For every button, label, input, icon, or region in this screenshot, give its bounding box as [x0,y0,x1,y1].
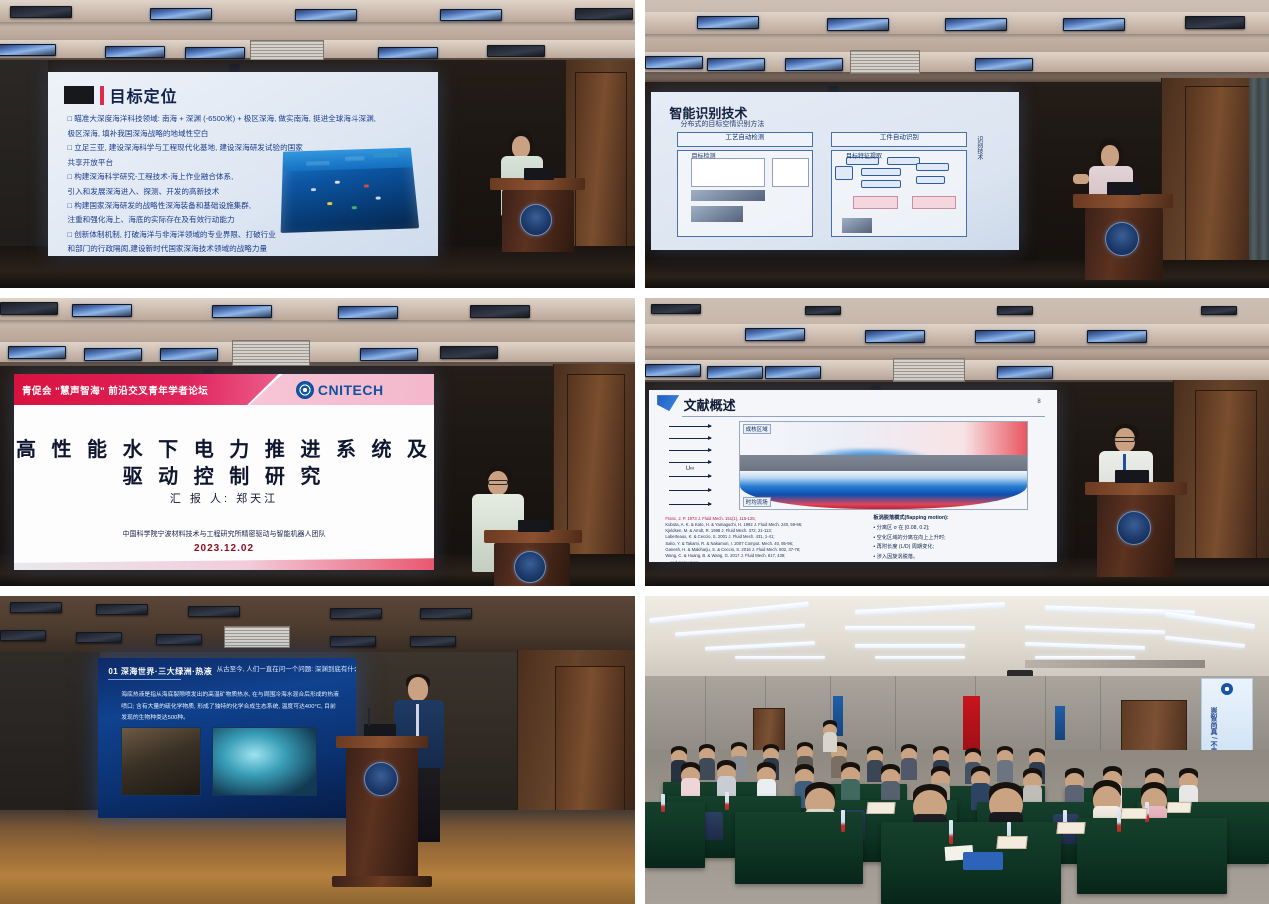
laptop [518,520,550,532]
bullet-line: □ 瞄准大深度海洋科技领域: 南海 + 深渊 (-6500米) + 极区深海, … [68,112,423,126]
conclusion-item: • 分离区 σ 在 [0.08, 0.2]; [873,524,1044,534]
organization-line: 中国科学院宁波材料技术与工程研究所精密驱动与智能机器人团队 [14,529,434,539]
plot-label-top: 成核区域 [743,424,771,434]
forum-banner: 青促会 "慧声智海" 前沿交叉青年学者论坛 [14,374,279,405]
microphone [368,708,370,726]
forum-banner-text: 青促会 "慧声智海" 前沿交叉青年学者论坛 [14,383,208,397]
feature-map-a [853,196,897,209]
side-label: 识别技术 [975,136,984,160]
podium[interactable] [346,748,418,876]
podium-emblem [364,762,398,796]
slide-header-text: 01 深海世界·三大绿洲·热液 [108,667,212,676]
page-number: 8 [1037,399,1040,405]
cnitech-logo-text: CNITECH [318,382,384,398]
tote-bag [963,852,1003,870]
flow-node [861,180,901,188]
conclusion-item: • 再附长度 (L/D) 周期变化; [873,543,1044,553]
feature-map-b [912,196,956,209]
glasses-icon [1114,437,1135,442]
device-illustration [691,206,743,222]
podium[interactable] [494,543,570,586]
bullet-line: □ 创新体制机制, 打破海洋与非海洋领域的专业界限、打破行业 [68,228,423,242]
conclusion-item: • 涉入因旋涡脱落。 [873,553,1044,562]
podium-emblem [1117,511,1151,545]
podium[interactable] [1085,208,1163,280]
inflow-arrow [669,476,711,477]
inflow-arrow [669,504,711,505]
slide-question: 从古至今, 人们一直在问一个问题: 深渊到底有什么? [217,663,356,673]
plot-label-bottom: 时均流场 [743,497,771,507]
input-thumbnail [842,218,871,232]
cnitech-logo: CNITECH [296,381,384,399]
left-label: 目标检测 [691,151,715,160]
red-vertical-banner [963,696,980,754]
panel-top-right: 智能识别技术 分布式的目标空情识别方法 工艺自动检测 工件自动识别 [645,0,1269,288]
inflow-arrow [669,426,711,427]
projection-screen: 智能识别技术 分布式的目标空情识别方法 工艺自动检测 工件自动识别 [651,92,1019,250]
name-card [1166,802,1191,813]
panel-middle-right: 文献概述 8 U∞ 成核区域 [645,298,1269,586]
laptop [524,168,554,180]
blue-vertical-banner [1055,706,1065,740]
column-header-right: 工件自动识别 [831,132,967,148]
slide-subtitle: 分布式的目标空情识别方法 [680,119,764,129]
attendee [823,720,837,752]
panel-bottom-left: 01 深海世界·三大绿洲·热液 从古至今, 人们一直在问一个问题: 深渊到底有什… [0,596,635,904]
ceiling-rail [1025,660,1205,668]
conference-table-front [1077,818,1227,894]
scatter-plot [691,158,765,186]
podium[interactable] [502,190,574,252]
hydrothermal-vent-photo [121,727,201,796]
name-card [866,802,895,814]
conclusion-item: • 空化区域的分离在向上上升时; [873,534,1044,544]
projection-screen: 青促会 "慧声智海" 前沿交叉青年学者论坛 CNITECH 高 性 能 水 下 … [14,374,434,570]
bullet-line: 极区深海, 填补我国深海战略的地域性空白 [68,127,423,141]
title-accent-bar [100,86,104,105]
flow-node [835,166,853,180]
inflow-arrow [669,490,711,491]
flow-node [916,176,945,184]
podium-emblem [514,551,546,583]
right-label: 目标特征提取 [846,151,882,160]
inflow-arrow [669,462,711,463]
podium-top [336,736,428,748]
attendee [997,746,1013,782]
glasses-icon [488,480,508,485]
conference-table-front [645,802,705,868]
inflow-label: U∞ [686,466,695,472]
flow-field-plot: 成核区域 时均流场 [739,421,1029,510]
flow-node [887,157,920,165]
flow-node [861,168,901,176]
water-bottle [841,810,845,832]
led-wall: 01 深海世界·三大绿洲·热液 从古至今, 人们一直在问一个问题: 深渊到底有什… [98,658,356,818]
laptop [1107,182,1141,195]
column-header-left: 工艺自动检测 [677,132,813,148]
name-card [1120,808,1147,819]
ocean-cube-graphic [281,147,419,232]
podium-emblem [520,204,552,236]
slide-title-line1: 高 性 能 水 下 电 力 推 进 系 统 及 [14,433,434,462]
laptop [1115,470,1149,483]
name-card [996,836,1027,849]
inflow-arrow [669,438,711,439]
podium-top [1073,194,1173,208]
title-block-decor [64,86,94,104]
banner-logo-icon [1221,683,1233,695]
sample-photo-strip [691,190,765,201]
conclusion-list: 板涡脱落模式(flapping motion): • 分离区 σ 在 [0.08… [873,514,1044,562]
slide-title-line2: 驱 动 控 制 研 究 [14,460,434,489]
photo-collage: 目标定位 □ 瞄准大深度海洋科技领域: 南海 + 深渊 (-6500米) + 极… [0,0,1269,904]
cnitech-logo-icon [296,381,314,399]
title-rule [682,416,1045,417]
podium-base [332,876,432,887]
podium-top [1085,482,1187,495]
slide-title: 文献概述 [684,395,736,414]
slide-title-row: 目标定位 [64,83,178,107]
conclusion-header: 板涡脱落模式(flapping motion): [873,514,1044,524]
projection-screen: 目标定位 □ 瞄准大深度海洋科技领域: 南海 + 深渊 (-6500米) + 极… [48,72,438,256]
water-bottle [949,820,953,844]
lanyard [416,704,419,738]
slide-date: 2023.12.02 [14,543,434,554]
reference-item: ... and many more [665,560,849,562]
water-bottle [661,794,665,812]
slide-footer-band [14,558,434,570]
panel-bottom-right: 崇智尚真 / 不畏风险 [645,596,1269,904]
flow-node [916,163,949,171]
raised-hand [1073,174,1089,184]
panel-middle-left: 青促会 "慧声智海" 前沿交叉青年学者论坛 CNITECH 高 性 能 水 下 … [0,298,635,586]
attendee [699,744,715,780]
deep-sea-ecosystem-photo [212,727,318,796]
name-card [1056,822,1085,834]
inset-panel [772,158,809,186]
presenter-line: 汇 报 人: 郑天江 [14,490,434,506]
floor-reflection [0,810,635,904]
reference-list: Franc, J. P. 1973 J. Fluid Mech. 151(1),… [665,516,849,562]
attendee [901,744,917,780]
podium-emblem [1105,222,1139,256]
projection-screen: 文献概述 8 U∞ 成核区域 [649,390,1057,562]
podium[interactable] [1097,495,1175,577]
slide-title: 目标定位 [110,83,178,107]
slide-title-decor [657,395,679,411]
water-bottle [725,792,729,810]
panel-top-left: 目标定位 □ 瞄准大深度海洋科技领域: 南海 + 深渊 (-6500米) + 极… [0,0,635,288]
inflow-arrow [669,450,711,451]
header-underline [108,679,180,680]
slide-body: 海底热液是指从海底裂隙喷发出的高温矿物质热水, 在与周围冷海水混合后形成的热液喷… [121,690,340,725]
bullet-line: 和部门的行政隔阂,建设新时代国家深海技术领域的战略力量 [68,242,423,256]
slide-header: 01 深海世界·三大绿洲·热液 [108,666,212,677]
